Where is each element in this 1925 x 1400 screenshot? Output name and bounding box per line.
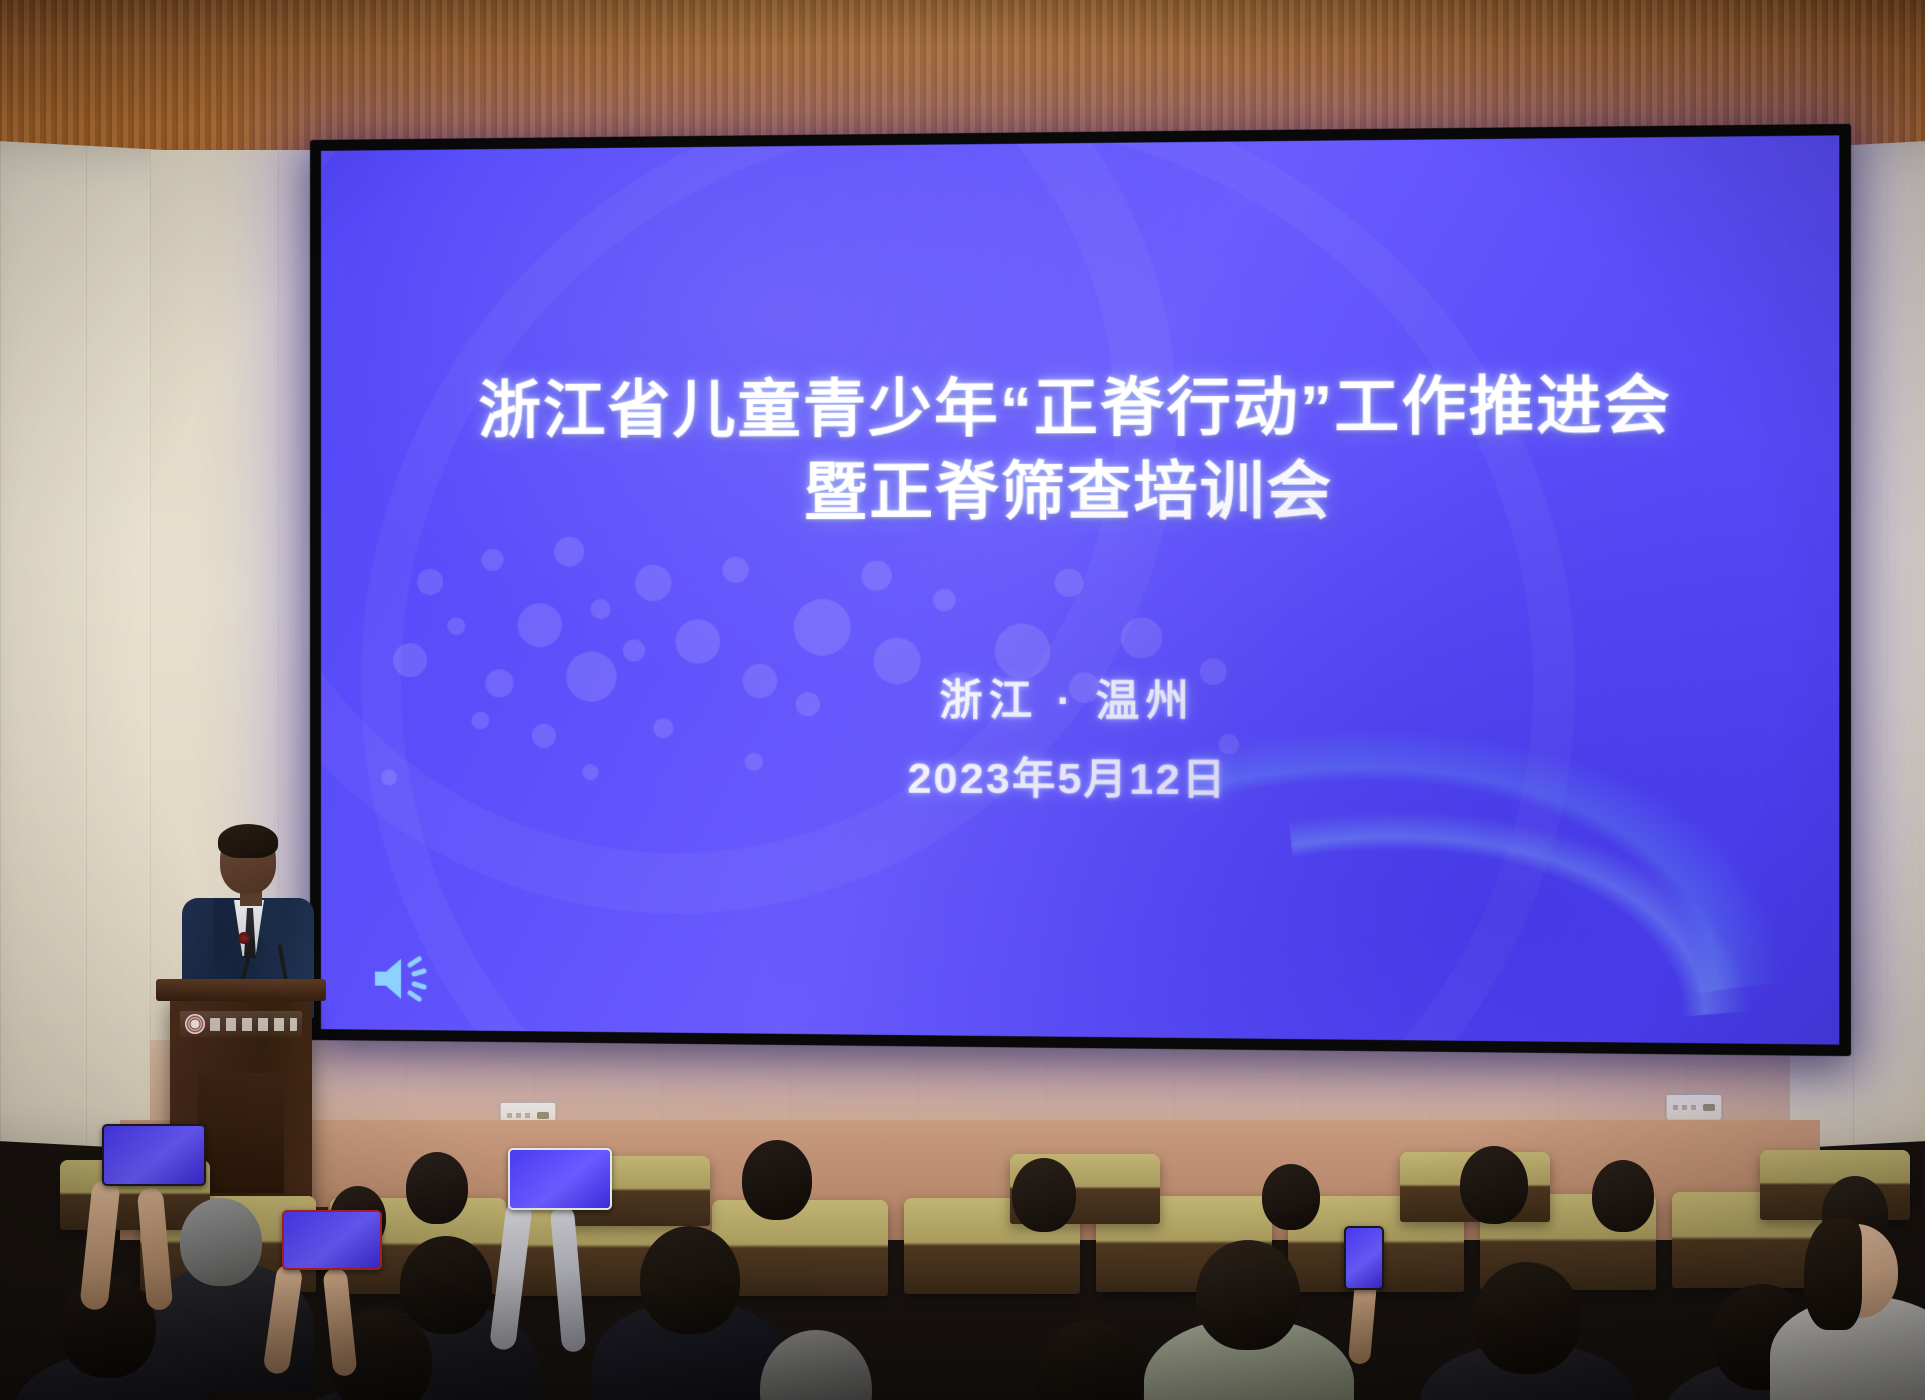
wall-outlet xyxy=(1666,1094,1722,1120)
led-screen: 浙江省儿童青少年“正脊行动”工作推进会 暨正脊筛查培训会 浙江 · 温州 202… xyxy=(321,135,1839,1044)
slide-title-line-2: 暨正脊筛查培训会 xyxy=(321,454,1839,531)
slide-location: 浙江 · 温州 xyxy=(321,665,1839,731)
institution-emblem-icon xyxy=(185,1014,205,1034)
speaker-volume-icon xyxy=(371,952,429,1007)
slide-text-block: 浙江省儿童青少年“正脊行动”工作推进会 暨正脊筛查培训会 浙江 · 温州 202… xyxy=(321,135,1839,810)
smartphone[interactable] xyxy=(102,1124,206,1186)
slide-title-line-1: 浙江省儿童青少年“正脊行动”工作推进会 xyxy=(321,369,1839,448)
smartphone[interactable] xyxy=(282,1210,382,1270)
smartphone[interactable] xyxy=(508,1148,612,1210)
podium-column xyxy=(198,1073,284,1193)
smartphone[interactable] xyxy=(1344,1226,1384,1290)
podium-nameplate-text xyxy=(210,1018,297,1031)
podium-nameplate xyxy=(180,1011,302,1037)
auditorium-photo: 浙江省儿童青少年“正脊行动”工作推进会 暨正脊筛查培训会 浙江 · 温州 202… xyxy=(0,0,1925,1400)
led-screen-frame: 浙江省儿童青少年“正脊行动”工作推进会 暨正脊筛查培训会 浙江 · 温州 202… xyxy=(310,124,1851,1056)
screen-decorative-swoosh xyxy=(1288,774,1754,1045)
podium-top-surface xyxy=(156,979,326,1001)
slide-date: 2023年5月12日 xyxy=(321,742,1839,811)
